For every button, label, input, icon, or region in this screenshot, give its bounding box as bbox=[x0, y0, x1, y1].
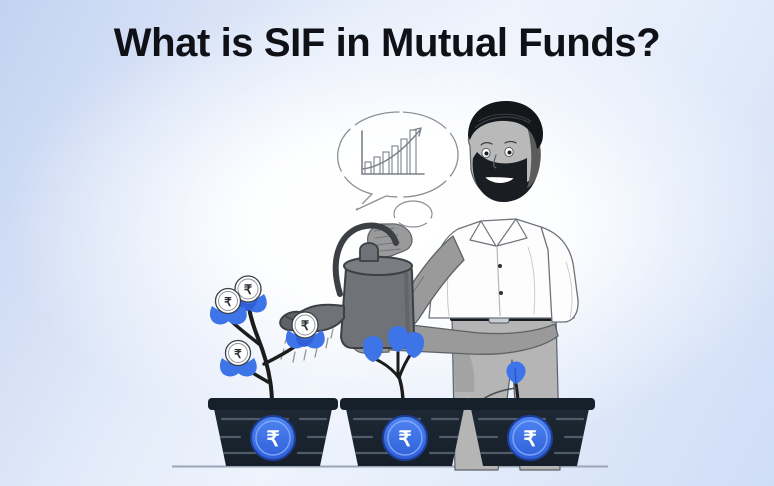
svg-text:₹: ₹ bbox=[244, 282, 253, 297]
growth-chart-thought-bubble bbox=[338, 112, 458, 227]
pot-badge-symbol: ₹ bbox=[266, 428, 279, 451]
pot-center-blue-flowers: ₹ bbox=[340, 398, 470, 466]
pot-right-sprout: ₹ bbox=[465, 398, 595, 466]
svg-text:₹: ₹ bbox=[301, 318, 310, 333]
page-title-text: What is SIF in Mutual Funds? bbox=[0, 22, 774, 64]
pot-badge-symbol: ₹ bbox=[523, 428, 536, 451]
illustration-svg: ₹ ₹ ₹ bbox=[0, 0, 774, 486]
money-plant-left: ₹ ₹ ₹ bbox=[210, 276, 325, 404]
pot-left-money-plant: ₹ bbox=[208, 398, 338, 466]
illustration: ₹ ₹ ₹ bbox=[0, 0, 774, 486]
tulip-head bbox=[404, 332, 424, 358]
tulip-head bbox=[363, 336, 383, 362]
poster-canvas: What is SIF in Mutual Funds? bbox=[0, 0, 774, 486]
pot-rim bbox=[465, 398, 595, 410]
pot-rim bbox=[340, 398, 470, 410]
page-title: What is SIF in Mutual Funds? bbox=[0, 22, 774, 64]
svg-text:₹: ₹ bbox=[234, 347, 242, 361]
tulip-plant-center bbox=[363, 326, 424, 404]
head bbox=[468, 101, 543, 202]
coin-blossom: ₹ bbox=[220, 341, 257, 377]
pot-rim bbox=[208, 398, 338, 410]
svg-text:₹: ₹ bbox=[224, 295, 232, 309]
pot-badge-symbol: ₹ bbox=[398, 428, 411, 451]
